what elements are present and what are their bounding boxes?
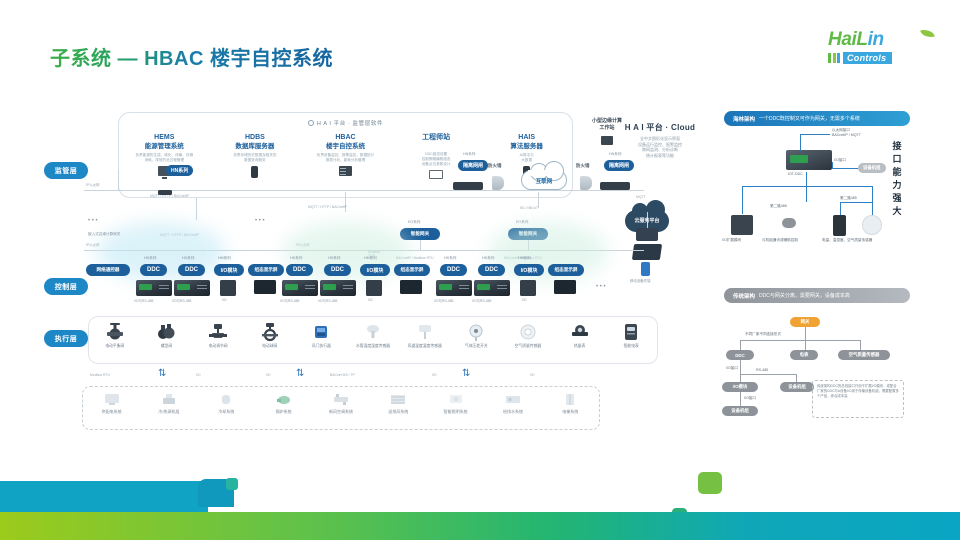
butterfly-valve-icon: [156, 322, 176, 342]
bus-caption-4: I/O与RS-485: [280, 298, 299, 303]
edge-gateway-label: 嵌入式边缘计算网关: [88, 232, 120, 237]
hailin-banner-desc: 一个DDC既控制又可作为网关，无需多个系统: [759, 115, 860, 122]
execution-item-9[interactable]: 热量表: [554, 317, 606, 363]
firewall-icon-right: [580, 176, 592, 190]
balance-valve-icon: [105, 322, 125, 342]
item-name: 算法服务器: [481, 142, 572, 151]
trad-equip-chip-2[interactable]: 设备机组: [722, 406, 758, 416]
system-item-label: 冷却系统: [218, 409, 234, 415]
network-controller-pill[interactable]: 网络通控器: [86, 264, 130, 276]
execution-item-1[interactable]: 蝶型阀: [141, 317, 193, 363]
execution-item-label: 智能电表: [624, 344, 639, 349]
ddc-device-6: [474, 280, 510, 296]
series-label-5: HD系列: [328, 256, 340, 261]
deco-bar-teal: [0, 481, 208, 514]
edge-gateway-pill[interactable]: HN系列: [166, 165, 193, 176]
bus-caption-3: I/O: [222, 298, 227, 302]
ddc-pill-3[interactable]: DDC: [286, 264, 313, 276]
display-device-3: [554, 280, 576, 294]
right-panel-vertical-text: 接口能力强大: [890, 140, 904, 218]
trad-meter-chip[interactable]: 电表: [790, 350, 818, 360]
drop-line: [538, 192, 539, 208]
execution-item-list: 电动平衡阀 蝶型阀 电动调节阀 电动球阀 风门执行器 水管温度湿度传感器: [89, 317, 657, 363]
series-label-7: HD系列: [444, 256, 456, 261]
execution-item-10[interactable]: 智能电表: [605, 317, 657, 363]
mobile-devices-label: 移动设备终端: [630, 278, 650, 283]
eg-gateway-left[interactable]: 智能网关: [400, 228, 440, 240]
io-module-device-1: [220, 280, 236, 296]
system-item-label: 送排风系统: [388, 409, 408, 415]
item-name: 楼宇自控系统: [300, 142, 391, 151]
drop-line: [420, 240, 421, 251]
execution-item-8[interactable]: 空气质量传感器: [502, 317, 554, 363]
chiller-icon: [161, 393, 177, 406]
bus-label-mqtt-center: MQTT / HTTP / BACnetIP: [308, 205, 347, 209]
leaf-icon: [920, 28, 935, 40]
exe-protocol-2: I/O: [266, 373, 271, 377]
display-device-1: [254, 280, 276, 294]
item-desc: 负责存储历史数据及相关的 数据查询服务: [210, 153, 301, 163]
io-module-device-3: [520, 280, 536, 296]
ahu-icon: [333, 393, 349, 406]
bus-label-mqtt-right: MQTT: [636, 195, 646, 199]
ddc-device-3: [282, 280, 318, 296]
item-name: 数据库服务器: [210, 142, 301, 151]
ball-valve-icon: [260, 322, 280, 342]
execution-item-label: 水管温度湿度传感器: [356, 344, 390, 349]
trad-io-port-label-2: I/O接口: [744, 396, 756, 401]
logo-wordmark: HaiLin: [828, 30, 938, 50]
bus-caption-2: I/O与RS-485: [172, 298, 191, 303]
elevator-icon: [562, 393, 578, 406]
lighting-icon: [448, 393, 464, 406]
hailin-architecture-banner: 海林架构 一个DDC既控制又可作为网关，无需多个系统: [724, 111, 910, 126]
bus-485-label-2: 第二路485: [840, 196, 857, 201]
supervisory-item-hems[interactable]: HEMS 能源管理系统 负责能源的生成、转化、传输、存储 消耗、排放的全过程管理: [119, 133, 210, 179]
trad-banner-title: 传统架构: [733, 292, 755, 300]
laptop-icon: [429, 170, 443, 179]
ellipsis-mid: • • •: [255, 218, 265, 224]
system-item-label: 锅炉系统: [276, 409, 292, 415]
system-item-6[interactable]: 智能照明系统: [427, 387, 484, 429]
system-item-label: 供配电系统: [102, 409, 122, 415]
damper-actuator-icon: [311, 322, 331, 342]
page-title: 子系统 — HBAC 楼宇自控系统: [50, 42, 333, 71]
execution-item-7[interactable]: 气体压差开关: [450, 317, 502, 363]
ellipsis-right: • • •: [596, 284, 606, 290]
system-item-3[interactable]: 锅炉系统: [255, 387, 312, 429]
bottom-gradient-bar: [0, 512, 960, 540]
execution-item-label: 热量表: [574, 344, 585, 349]
gatekeeper-device-right: [600, 182, 630, 190]
bus-caption-9: I/O: [522, 298, 527, 302]
flow-arrow-1: ⇅: [158, 368, 166, 379]
sensor-node-label: 电量、温湿度、空气质量传感器: [822, 238, 872, 243]
io-port-label: I/O接口: [834, 158, 846, 163]
system-item-7[interactable]: 给排水系统: [484, 387, 541, 429]
pressure-switch-icon: [466, 322, 486, 342]
system-item-label: 新风空调系统: [329, 409, 353, 415]
exe-protocol-4: I/O: [432, 373, 437, 377]
display-pill-1[interactable]: 组态显示屏: [248, 264, 284, 276]
trad-io-module-chip[interactable]: I/O模块: [722, 382, 758, 392]
system-item-label: 冷/热源机组: [158, 409, 179, 415]
ddc-pill-4[interactable]: DDC: [324, 264, 351, 276]
trad-io-port-label: I/O接口: [726, 366, 738, 371]
trad-ddc-h: [740, 374, 796, 375]
execution-item-label: 气体压差开关: [465, 344, 488, 349]
server-icon: [251, 166, 258, 178]
io-module-icon: [731, 215, 753, 235]
item-code: 工程师站: [391, 133, 482, 142]
traditional-note: 传统架构DDC的总线接口只用于扩展I/O模块，或配合厂家的DDC与A设备I/O用…: [812, 380, 904, 418]
display-pill-2[interactable]: 组态显示屏: [394, 264, 430, 276]
logo-controls-label: Controls: [843, 52, 892, 64]
trad-io-v: [740, 374, 741, 382]
gatekeeper-device-left: [453, 182, 483, 190]
cooling-icon: [218, 393, 234, 406]
io-module-pill-3[interactable]: I/O模块: [514, 264, 544, 276]
io-module-node-label: I/O扩展模块: [722, 238, 741, 243]
hai-platform-title: H A I 平台 · Cloud: [600, 122, 720, 133]
exe-protocol-0: Modbus RTU: [90, 373, 110, 377]
bus-485-label-1: 第二路485: [770, 204, 787, 209]
series-label-2: HD系列: [182, 256, 194, 261]
trad-air-sensor-chip[interactable]: 空气质量传感器: [838, 350, 890, 360]
internet-label: 互联网: [522, 177, 566, 185]
trad-io-down: [740, 392, 741, 406]
io-line-h: [832, 168, 858, 169]
display-pill-3[interactable]: 组态显示屏: [548, 264, 584, 276]
internet-cloud: 互联网: [521, 170, 567, 190]
touch-panel-node-label: 与机组通讯或辅助控制: [762, 238, 798, 243]
supervisory-card-header: H A I 平台 · 监管层软件: [119, 119, 572, 127]
item-name: 能源管理系统: [119, 142, 210, 151]
air-quality-icon: [518, 322, 538, 342]
trad-protocol-note: 不同厂家不同连接形式: [745, 332, 781, 337]
bus-caption-6: I/O: [368, 298, 373, 302]
system-item-4[interactable]: 新风空调系统: [312, 387, 369, 429]
water-icon: [505, 393, 521, 406]
trad-equip-v: [796, 374, 797, 382]
gatekeeper-right-pill[interactable]: 隔离网闸: [604, 160, 634, 171]
systems-item-list: 供配电系统 冷/热源机组 冷却系统 锅炉系统 新风空调系统 送排风系统: [83, 387, 599, 429]
heat-meter-icon: [570, 322, 590, 342]
duct-sensor-icon: [415, 322, 435, 342]
exe-protocol-3: BACnet MS / TP: [330, 373, 355, 377]
trad-equip-chip-1[interactable]: 设备机组: [780, 382, 814, 392]
series-label-4: HD系列: [290, 256, 302, 261]
eth-port-label: 以太网接口 BACnetIP / MQTT: [832, 128, 861, 138]
network-device: [158, 190, 172, 195]
ddc-pill-1[interactable]: DDC: [140, 264, 167, 276]
trad-fanout: [740, 340, 860, 341]
series-label-6: HM系列: [364, 256, 377, 261]
execution-item-4[interactable]: 风门执行器: [296, 317, 348, 363]
execution-item-label: 蝶型阀: [161, 344, 172, 349]
systems-card: 供配电系统 冷/热源机组 冷却系统 锅炉系统 新风空调系统 送排风系统: [82, 386, 600, 430]
ventilation-icon: [390, 393, 406, 406]
series-label-8: HD系列: [482, 256, 494, 261]
execution-item-label: 电动调节阀: [209, 344, 228, 349]
iot-ddc-label: IOT-DDC: [788, 172, 803, 177]
execution-item-label: 电动球阀: [262, 344, 277, 349]
trad-ddc-down: [740, 360, 741, 374]
ellipsis-left: • • •: [88, 218, 98, 224]
drop-line: [196, 198, 197, 220]
bus-caption-1: I/O与RS-485: [134, 298, 153, 303]
deco-square-teal: [226, 478, 238, 490]
ddc-pill-6[interactable]: DDC: [478, 264, 505, 276]
gateway-chip[interactable]: 网关: [790, 317, 820, 327]
display-device-2: [400, 280, 422, 294]
io-line-v: [832, 162, 833, 169]
system-item-0[interactable]: 供配电系统: [83, 387, 140, 429]
bus-label-ip-top-left: IP以太网: [86, 182, 99, 187]
ddc-green-panel: [790, 155, 808, 163]
branch-3-h: [840, 202, 872, 203]
supervisory-item-hdbs[interactable]: HDBS 数据库服务器 负责存储历史数据及相关的 数据查询服务: [210, 133, 301, 179]
trad-ddc-chip[interactable]: DDC: [726, 350, 754, 360]
item-code: HBAC: [300, 133, 391, 142]
supervisory-item-hbac[interactable]: HBAC 楼宇自控系统 负责设备监控、报警监控、数据统计 报表分析、能耗分析管理: [300, 133, 391, 179]
system-item-5[interactable]: 送排风系统: [370, 387, 427, 429]
branch-2: [806, 186, 807, 202]
hailin-banner-title: 海林架构: [733, 115, 755, 123]
eth-line-h: [800, 134, 830, 135]
branch-1: [742, 186, 743, 214]
series-label-1: HD系列: [144, 256, 156, 261]
supervisory-header-text: H A I 平台 · 监管层软件: [317, 119, 383, 127]
execution-item-6[interactable]: 风道温度湿度传感器: [399, 317, 451, 363]
item-code: HAIS: [481, 133, 572, 142]
trad-branch-air: [860, 340, 861, 350]
pipe-sensor-icon: [363, 322, 383, 342]
layer-label-execution: 执行层: [44, 330, 88, 347]
boiler-icon: [276, 393, 292, 406]
sensor-icon: [833, 215, 846, 236]
bus-caption-5: I/O与RS-485: [318, 298, 337, 303]
firewall-label-left: 防火墙: [488, 163, 502, 169]
cloud-platform-label: 云服务平台: [625, 217, 669, 224]
bus-caption-7: I/O与RS-485: [434, 298, 453, 303]
drop-line: [118, 170, 119, 191]
gatekeeper-left-pill[interactable]: 隔离网闸: [458, 160, 488, 171]
flow-arrow-3: ⇅: [462, 368, 470, 379]
bus-down: [806, 172, 807, 186]
item-code: HDBS: [210, 133, 301, 142]
ddc-pill-2[interactable]: DDC: [178, 264, 205, 276]
item-desc: 负责设备监控、报警监控、数据统计 报表分析、能耗分析管理: [300, 153, 391, 163]
tablet-device-icon: [632, 244, 662, 260]
execution-item-label: 电动平衡阀: [105, 344, 124, 349]
system-item-1[interactable]: 冷/热源机组: [140, 387, 197, 429]
logo-subrow: Controls: [828, 52, 938, 64]
logo-part-hai: Hai: [828, 29, 856, 50]
item-code: HEMS: [119, 133, 210, 142]
supervisory-card: H A I 平台 · 监管层软件 HEMS 能源管理系统 负责能源的生成、转化、…: [118, 112, 573, 198]
logo-bars-icon: [828, 53, 840, 63]
air-sensor-icon: [862, 215, 882, 235]
trad-branch-ddc: [740, 340, 741, 350]
ddc-device-4: [320, 280, 356, 296]
series-label-hn-left: HN系列: [463, 152, 475, 157]
system-item-8[interactable]: 电梯系统: [542, 387, 599, 429]
series-label-3: HM系列: [218, 256, 231, 261]
control-valve-icon: [208, 322, 228, 342]
smart-meter-icon: [621, 322, 641, 342]
flow-arrow-2: ⇅: [296, 368, 304, 379]
traditional-architecture-banner: 传统架构 DDC与网关分离，需要网关，设备成本高: [724, 288, 910, 303]
power-supply-icon: [104, 393, 120, 406]
bus-caption-8: I/O与RS-485: [472, 298, 491, 303]
rack-icon: [339, 166, 352, 176]
system-item-2[interactable]: 冷却系统: [198, 387, 255, 429]
firewall-label-right: 防火墙: [576, 163, 590, 169]
hailin-logo: HaiLin Controls: [828, 30, 938, 74]
series-label-9: HM系列: [518, 256, 531, 261]
trad-banner-desc: DDC与网关分离，需要网关，设备成本高: [759, 292, 850, 299]
slide-root: 子系统 — HBAC 楼宇自控系统 HaiLin Controls 监管层 控制…: [0, 0, 960, 540]
touch-panel-icon[interactable]: [782, 218, 796, 228]
execution-item-0[interactable]: 电动平衡阀: [89, 317, 141, 363]
phone-device-icon: [641, 262, 650, 276]
equip-chip-right[interactable]: 设备机组: [858, 163, 886, 173]
execution-item-2[interactable]: 电动调节阀: [192, 317, 244, 363]
series-label-eg-left: EG系列: [408, 220, 420, 225]
drop-line: [345, 192, 346, 212]
io-module-pill-1[interactable]: I/O模块: [214, 264, 244, 276]
firewall-icon-left: [492, 176, 504, 190]
execution-item-label: 空气质量传感器: [515, 344, 542, 349]
execution-item-5[interactable]: 水管温度湿度传感器: [347, 317, 399, 363]
exe-protocol-5: I/O: [530, 373, 535, 377]
layer-label-control: 控制层: [44, 278, 88, 295]
system-item-label: 电梯系统: [562, 409, 578, 415]
ddc-device-2: [174, 280, 210, 296]
branch-3: [872, 186, 873, 202]
deco-square-green-large: [698, 472, 722, 494]
trad-branch-meter: [805, 340, 806, 350]
ddc-device-1: [136, 280, 172, 296]
execution-item-label: 风道温度湿度传感器: [408, 344, 442, 349]
laptop-device-icon: [636, 228, 658, 241]
trad-rs485-label: RS-485: [756, 368, 768, 373]
exe-protocol-1: I/O: [196, 373, 201, 377]
io-module-pill-2[interactable]: I/O模块: [360, 264, 390, 276]
eth-line-v: [800, 134, 801, 151]
system-item-label: 智能照明系统: [444, 409, 468, 415]
logo-part-l: L: [856, 29, 867, 50]
system-item-label: 给排水系统: [503, 409, 523, 415]
ddc-device-5: [436, 280, 472, 296]
execution-card: 电动平衡阀 蝶型阀 电动调节阀 电动球阀 风门执行器 水管温度湿度传感器: [88, 316, 658, 364]
platform-icon: [308, 120, 314, 126]
series-label-hn-right: HN系列: [609, 152, 621, 157]
protocol-5g-label: 5G / NB-IoT: [520, 206, 538, 210]
layer-label-supervisory: 监管层: [44, 162, 88, 179]
execution-item-3[interactable]: 电动球阀: [244, 317, 296, 363]
item-desc: 负责能源的生成、转化、传输、存储 消耗、排放的全过程管理: [119, 153, 210, 163]
ddc-pill-5[interactable]: DDC: [440, 264, 467, 276]
trad-line-down: [805, 327, 806, 340]
execution-item-label: 风门执行器: [312, 344, 331, 349]
logo-part-in: in: [868, 29, 884, 50]
io-module-device-2: [366, 280, 382, 296]
